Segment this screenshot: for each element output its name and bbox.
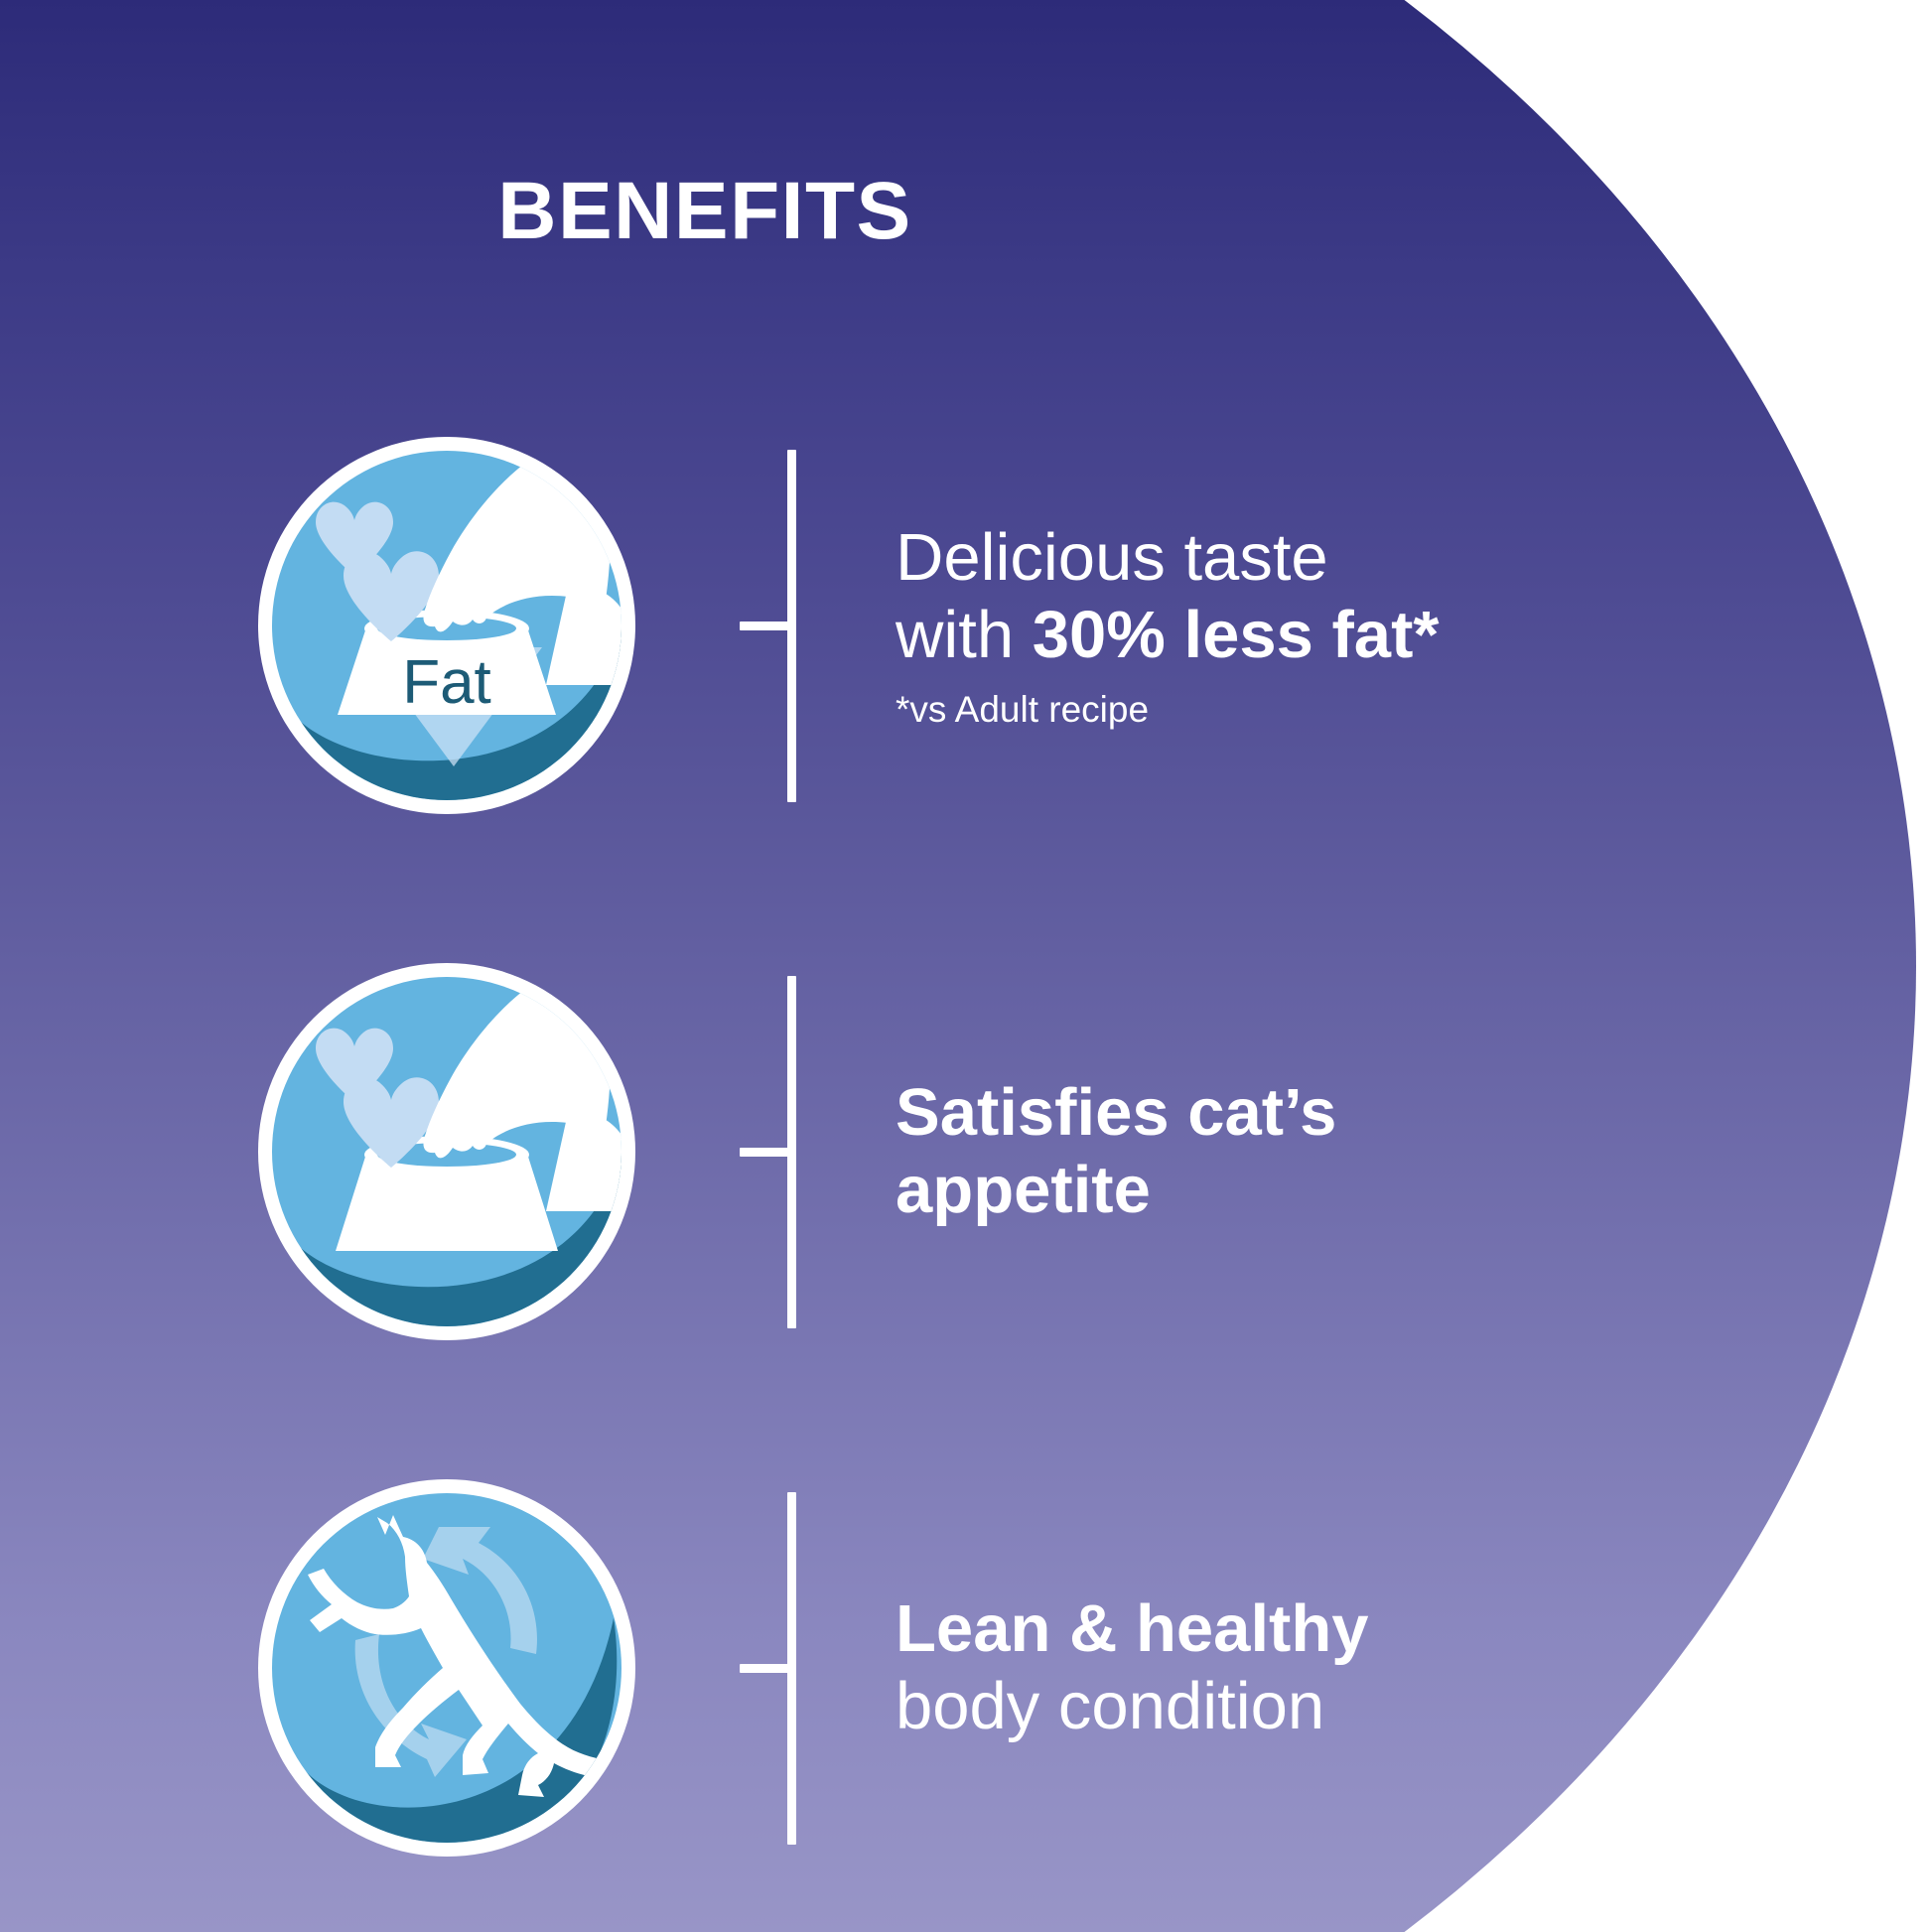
leaping-cat-arrows-icon: [248, 1469, 645, 1866]
benefit-line-2: body condition: [896, 1668, 1390, 1745]
benefit-line-2: appetite: [896, 1152, 1390, 1229]
benefit-line-1: Satisfies cat’s: [896, 1074, 1390, 1152]
divider-tick: [740, 1664, 796, 1673]
benefit-text: Delicious taste with 30% less fat* *vs A…: [844, 519, 1439, 732]
benefit-row: Satisfies cat’s appetite: [248, 953, 1390, 1350]
benefits-panel: BENEFITS: [0, 0, 1932, 1932]
cat-eating-bowl-icon: [248, 953, 645, 1350]
benefit-divider: [740, 976, 844, 1328]
icon-label: Fat: [402, 648, 491, 717]
benefit-line-2-prefix: with: [896, 598, 1033, 672]
benefit-line-1: Delicious taste: [896, 519, 1439, 597]
benefit-line-2: with 30% less fat*: [896, 597, 1439, 674]
benefit-line-1: Lean & healthy: [896, 1590, 1390, 1668]
cat-eating-bowl-fat-icon: Fat: [248, 427, 645, 824]
benefit-line-2-emphasis: 30% less fat*: [1033, 598, 1440, 672]
divider-tick: [740, 1148, 796, 1157]
benefit-row: Fat Delicious taste with 30% less fat* *…: [248, 427, 1390, 824]
benefit-divider: [740, 1492, 844, 1845]
benefit-footnote: *vs Adult recipe: [896, 688, 1439, 732]
benefit-divider: [740, 450, 844, 802]
page-title: BENEFITS: [0, 171, 1410, 252]
benefit-row: Lean & healthy body condition: [248, 1469, 1390, 1866]
divider-tick: [740, 621, 796, 630]
benefit-text: Satisfies cat’s appetite: [844, 1074, 1390, 1230]
benefit-text: Lean & healthy body condition: [844, 1590, 1390, 1746]
